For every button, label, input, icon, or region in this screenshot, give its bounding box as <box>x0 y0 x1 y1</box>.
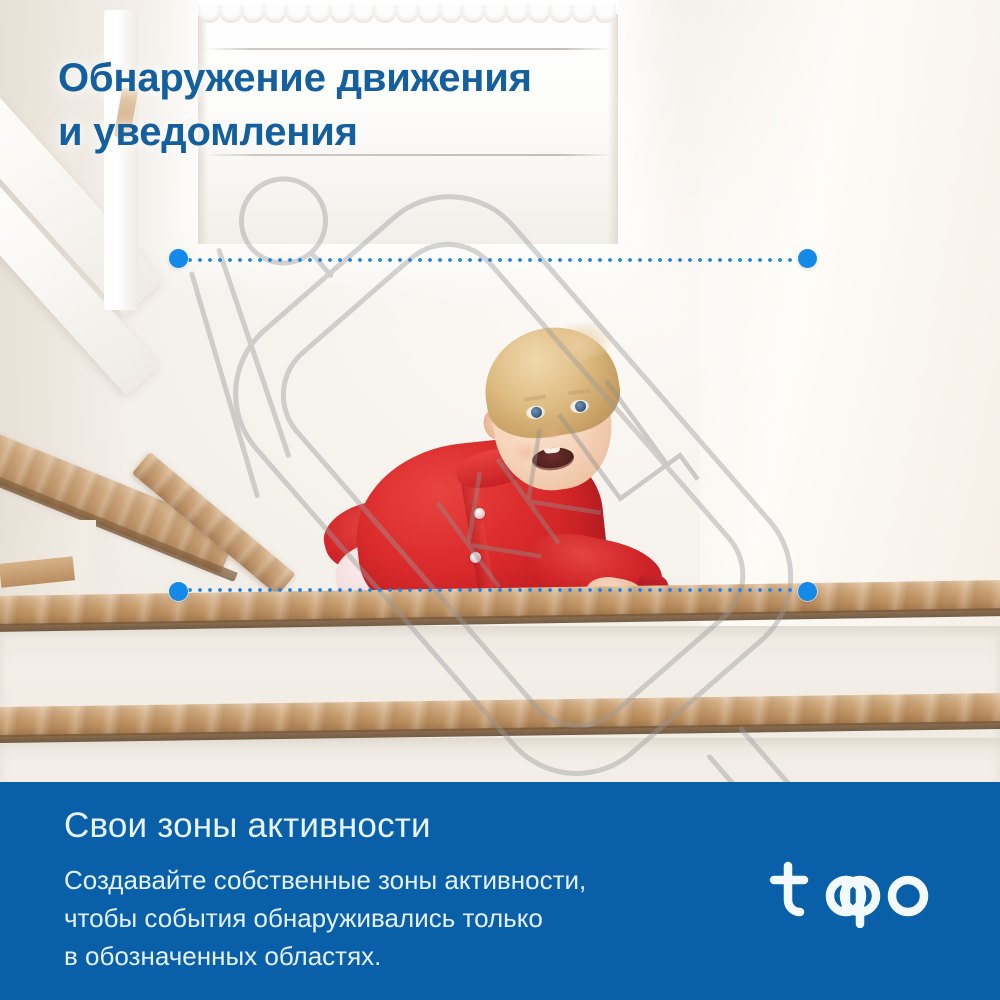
valance-scallop <box>308 5 330 23</box>
zone-handle-top-right[interactable] <box>798 249 817 268</box>
tapo-letter-o <box>892 880 924 912</box>
banner-title: Свои зоны активности <box>64 806 431 846</box>
valance-scallop <box>396 5 418 23</box>
stair-riser <box>0 738 1000 782</box>
valance-scallop <box>550 5 572 23</box>
feature-banner: Свои зоны активности Создавайте собствен… <box>0 782 1000 1000</box>
tapo-wordmark <box>768 856 938 928</box>
tapo-feature-poster: Обнаружение движения и уведомления Свои … <box>0 0 1000 1000</box>
valance-scallop <box>374 5 396 23</box>
zone-edge-left[interactable] <box>178 258 182 592</box>
valance-scallop <box>242 5 264 23</box>
zone-handle-bottom-right[interactable] <box>798 582 817 601</box>
zone-edge-right[interactable] <box>804 258 808 592</box>
stair-step-lower <box>0 700 1000 782</box>
valance-scallop <box>572 5 594 23</box>
zone-edge-top[interactable] <box>178 258 808 262</box>
window-pane-line <box>204 48 612 50</box>
valance-scallop <box>440 5 462 23</box>
valance-scallop <box>594 5 616 23</box>
page-headline: Обнаружение движения и уведомления <box>58 52 698 159</box>
valance-scallop <box>198 5 220 23</box>
valance-scallop <box>484 5 506 23</box>
valance-scallop <box>286 5 308 23</box>
valance-scallop <box>506 5 528 23</box>
tapo-letter-t <box>788 866 800 912</box>
tapo-logo <box>768 856 938 928</box>
banner-description: Создавайте собственные зоны активности, … <box>64 862 664 976</box>
valance-scallop <box>352 5 374 23</box>
zone-edge-bottom[interactable] <box>178 588 808 592</box>
window-valance <box>198 0 618 14</box>
detection-zone-rectangle[interactable] <box>178 258 808 592</box>
valance-scallop <box>264 5 286 23</box>
zone-handle-top-left[interactable] <box>169 249 188 268</box>
valance-scallop <box>330 5 352 23</box>
valance-scallop <box>418 5 440 23</box>
valance-scallop <box>220 5 242 23</box>
scene-photo: Обнаружение движения и уведомления <box>0 0 1000 782</box>
valance-scallop <box>528 5 550 23</box>
valance-scallop <box>462 5 484 23</box>
zone-handle-bottom-left[interactable] <box>169 582 188 601</box>
